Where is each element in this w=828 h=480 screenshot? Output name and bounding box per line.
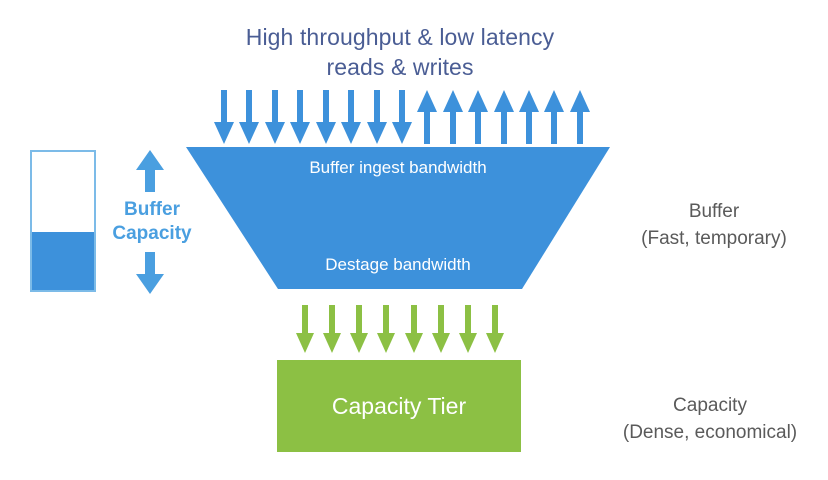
arrow-down-icon [432,305,450,353]
arrow-down-icon [214,90,234,144]
arrow-down-icon [377,305,395,353]
capacity-tier-box: Capacity Tier [277,360,521,452]
buffer-capacity-tier-diagram: High throughput & low latency reads & wr… [0,0,828,480]
capacity-side-annotation: Capacity (Dense, economical) [592,392,828,446]
arrow-down-icon [239,90,259,144]
buffer-io-arrow-row [214,90,590,144]
arrow-down-icon [392,90,412,144]
arrow-down-icon [265,90,285,144]
arrow-down-icon [290,90,310,144]
diagram-title-line-1: High throughput & low latency [150,22,650,52]
arrow-up-icon [417,90,437,144]
arrow-down-icon [405,305,423,353]
arrow-down-icon [486,305,504,353]
destage-bandwidth-label: Destage bandwidth [186,255,610,275]
arrow-down-icon [316,90,336,144]
destage-arrow-row [296,305,504,353]
arrow-up-icon [468,90,488,144]
buffer-side-annotation-line-2: (Fast, temporary) [600,225,828,252]
arrow-down-icon [323,305,341,353]
capacity-side-annotation-line-1: Capacity [592,392,828,419]
arrow-down-icon [296,305,314,353]
arrow-up-icon [494,90,514,144]
arrow-down-icon [341,90,361,144]
capacity-tier-label: Capacity Tier [332,393,466,420]
buffer-capacity-gauge-fill [32,232,94,290]
arrow-up-icon [443,90,463,144]
diagram-title: High throughput & low latency reads & wr… [150,22,650,82]
arrow-up-icon [570,90,590,144]
arrow-up-icon [544,90,564,144]
diagram-title-line-2: reads & writes [150,52,650,82]
arrow-down-icon [350,305,368,353]
arrow-down-icon [459,305,477,353]
buffer-ingest-bandwidth-label: Buffer ingest bandwidth [186,158,610,178]
buffer-side-annotation: Buffer (Fast, temporary) [600,198,828,252]
buffer-capacity-gauge [30,150,96,292]
buffer-side-annotation-line-1: Buffer [600,198,828,225]
arrow-down-icon [367,90,387,144]
capacity-side-annotation-line-2: (Dense, economical) [592,419,828,446]
arrow-up-icon [519,90,539,144]
